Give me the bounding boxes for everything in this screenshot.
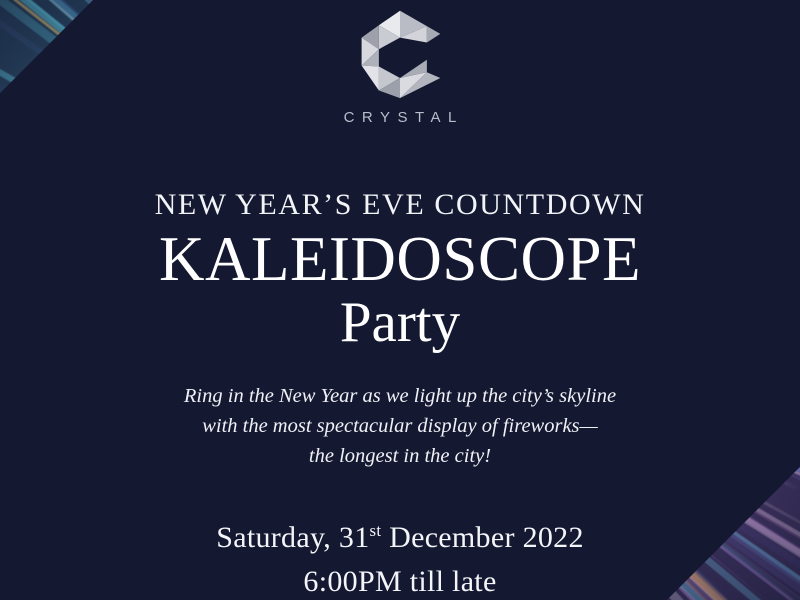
crystal-faceted-c-logo-icon xyxy=(352,6,448,102)
description-line-1: Ring in the New Year as we light up the … xyxy=(184,381,616,411)
event-title: KALEIDOSCOPE xyxy=(159,227,641,291)
poster-canvas: CRYSTAL NEW YEAR’S EVE COUNTDOWN KALEIDO… xyxy=(0,0,800,600)
description-line-2: with the most spectacular display of fir… xyxy=(184,411,616,441)
poster-content: CRYSTAL NEW YEAR’S EVE COUNTDOWN KALEIDO… xyxy=(0,0,800,600)
eyebrow-heading: NEW YEAR’S EVE COUNTDOWN xyxy=(155,190,646,220)
event-subtitle: Party xyxy=(340,293,460,353)
event-date-suffix: December 2022 xyxy=(381,521,583,554)
brand-lockup: CRYSTAL xyxy=(336,6,464,126)
event-time: 6:00PM till late xyxy=(303,563,496,600)
event-date-prefix: Saturday, 31 xyxy=(216,521,369,554)
description-line-3: the longest in the city! xyxy=(184,441,616,471)
event-description: Ring in the New Year as we light up the … xyxy=(184,381,616,471)
event-date-ordinal: st xyxy=(370,521,382,540)
event-date: Saturday, 31st December 2022 xyxy=(216,519,584,557)
brand-wordmark: CRYSTAL xyxy=(336,109,464,126)
